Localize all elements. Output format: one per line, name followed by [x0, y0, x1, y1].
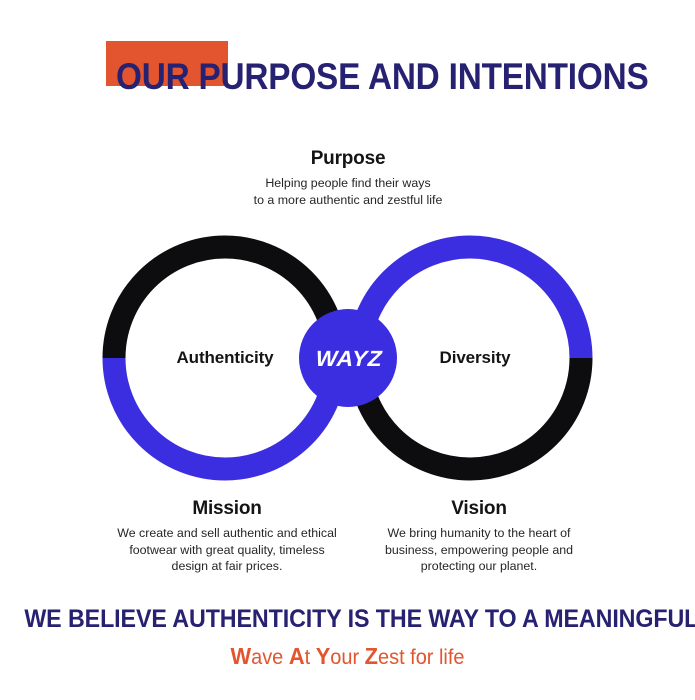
tagline-text-t: t — [305, 646, 316, 669]
mission-block: Mission We create and sell authentic and… — [96, 498, 358, 575]
infinity-diagram: Authenticity Diversity WAYZ Purpose Help… — [0, 130, 695, 590]
vision-line-2: business, empowering people and — [354, 542, 604, 559]
vision-block: Vision We bring humanity to the heart of… — [354, 498, 604, 575]
purpose-title: Purpose — [217, 148, 479, 170]
purpose-body: Helping people find their ways to a more… — [217, 175, 479, 208]
mission-line-2: footwear with great quality, timeless — [96, 542, 358, 559]
purpose-line-1: Helping people find their ways — [217, 175, 479, 192]
tagline-letter-a: A — [289, 643, 305, 669]
tagline-text-our: our — [330, 646, 364, 669]
footer: WE BELIEVE AUTHENTICITY IS THE WAY TO A … — [0, 605, 695, 670]
vision-line-3: protecting our planet. — [354, 558, 604, 575]
footer-tagline: Wave At Your Zest for life — [17, 643, 677, 670]
tagline-letter-z: Z — [365, 643, 378, 669]
vision-title: Vision — [354, 498, 604, 520]
wayz-logo-wordmark: WAYZ — [298, 346, 401, 372]
mission-line-1: We create and sell authentic and ethical — [96, 525, 358, 542]
mission-body: We create and sell authentic and ethical… — [96, 525, 358, 575]
tagline-letter-y: Y — [316, 643, 331, 669]
purpose-line-2: to a more authentic and zestful life — [217, 192, 479, 209]
footer-headline: WE BELIEVE AUTHENTICITY IS THE WAY TO A … — [24, 605, 670, 634]
left-circle-label: Authenticity — [160, 348, 290, 368]
mission-title: Mission — [96, 498, 358, 520]
page-title: OUR PURPOSE AND INTENTIONS — [116, 56, 620, 98]
right-circle-label: Diversity — [410, 348, 540, 368]
vision-body: We bring humanity to the heart of busine… — [354, 525, 604, 575]
purpose-block: Purpose Helping people find their ways t… — [217, 148, 479, 208]
tagline-text-est-for-life: est for life — [378, 646, 464, 669]
tagline-letter-w: W — [230, 643, 251, 669]
tagline-text-ave: ave — [251, 646, 289, 669]
vision-line-1: We bring humanity to the heart of — [354, 525, 604, 542]
mission-line-3: design at fair prices. — [96, 558, 358, 575]
header: OUR PURPOSE AND INTENTIONS — [0, 0, 695, 120]
